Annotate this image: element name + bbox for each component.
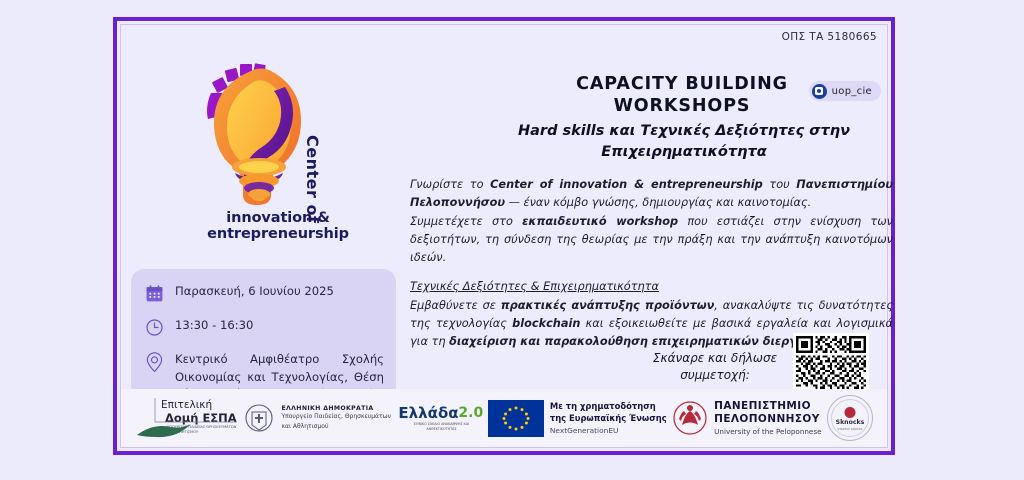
qr-caption: Σκάναρε και δήλωσε συμμετοχή: [650, 350, 780, 385]
uop-line-1: ΠΑΝΕΠΙΣΤΗΜΙΟ [714, 400, 821, 413]
sknocks-dot-icon [844, 407, 855, 418]
detail-row-date: Παρασκευή, 6 Ιουνίου 2025 [145, 283, 384, 307]
sknocks-logo: Sknocks STARTUP KNOCKS [827, 395, 873, 441]
ops-code: ΟΠΣ ΤΑ 5180665 [782, 31, 877, 43]
detail-row-time: 13:30 - 16:30 [145, 317, 384, 341]
clock-icon [145, 317, 171, 341]
page-subtitle: Hard skills και Τεχνικές Δεξιότητες στην… [499, 121, 869, 162]
location-pin-icon [145, 351, 171, 377]
qr-caption-line-1: Σκάναρε και δήλωσε [650, 350, 780, 367]
eu-funding-logo: Με τη χρηματοδότηση της Ευρωπαϊκής Ένωση… [488, 400, 667, 437]
poster: ΟΠΣ ΤΑ 5180665 uop_cie [113, 17, 895, 455]
subtitle-line-2: Επιχειρηματικότητα [499, 142, 869, 163]
ellada-sub: ΕΘΝΙΚΟ ΣΧΕΔΙΟ ΑΝΑΚΑΜΨΗΣ ΚΑΙ ΑΝΘΕΚΤΙΚΟΤΗΤ… [404, 422, 478, 431]
uop-logo: ΠΑΝΕΠΙΣΤΗΜΙΟ ΠΕΛΟΠΟΝΝΗΣΟΥ University of … [672, 399, 821, 437]
paragraph-intro: Γνωρίστε το Center of innovation & entre… [410, 176, 893, 213]
body-text: Γνωρίστε το Center of innovation & entre… [410, 176, 893, 352]
page-title: CAPACITY BUILDING WORKSHOPS [517, 73, 847, 118]
eu-line-2: της Ευρωπαϊκής Ένωσης [550, 413, 667, 424]
greek-coat-of-arms-icon [244, 402, 274, 434]
sknocks-sub: STARTUP KNOCKS [828, 427, 872, 431]
uop-line-3: University of the Peloponnese [714, 427, 821, 436]
espa-rule-icon [135, 396, 239, 440]
calendar-icon [145, 283, 171, 307]
eu-flag-icon [488, 400, 544, 437]
paragraph-workshop: Συμμετέχετε στο εκπαιδευτικό workshop πο… [410, 213, 893, 268]
event-details-card: Παρασκευή, 6 Ιουνίου 2025 13:30 - 16:30 … [131, 269, 396, 407]
footer-logo-bar: Επιτελική Δομή ΕΣΠΑ ΥΠΟΥΡΓΕΙΟ ΠΑΙΔΕΙΑΣ Θ… [121, 389, 887, 447]
logo-tagline: innovation & entrepreneurship [155, 210, 401, 242]
ellada-20-logo: Ελλάδα 2.0 ΕΘΝΙΚΟ ΣΧΕΔΙΟ ΑΝΑΚΑΜΨΗΣ ΚΑΙ Α… [396, 398, 482, 438]
greek-republic-line-3: και Αθλητισμού [281, 423, 391, 432]
detail-date-text: Παρασκευή, 6 Ιουνίου 2025 [171, 283, 334, 301]
title-line-2: WORKSHOPS [517, 95, 847, 117]
eu-line-1: Με τη χρηματοδότηση [550, 401, 667, 412]
espa-logo: Επιτελική Δομή ΕΣΠΑ ΥΠΟΥΡΓΕΙΟ ΠΑΙΔΕΙΑΣ Θ… [135, 396, 239, 440]
uop-line-2: ΠΕΛΟΠΟΝΝΗΣΟΥ [714, 413, 821, 426]
greek-republic-logo: ΕΛΛΗΝΙΚΗ ΔΗΜΟΚΡΑΤΙΑ Υπουργείο Παιδείας, … [244, 402, 391, 434]
greek-republic-line-1: ΕΛΛΗΝΙΚΗ ΔΗΜΟΚΡΑΤΙΑ [281, 405, 391, 412]
sknocks-name: Sknocks [828, 419, 872, 426]
ellada-name: Ελλάδα [398, 404, 458, 422]
subtitle-line-1: Hard skills και Τεχνικές Δεξιότητες στην [499, 121, 869, 142]
section-heading: Τεχνικές Δεξιότητες & Επιχειρηματικότητα [410, 278, 893, 296]
title-line-1: CAPACITY BUILDING [517, 73, 847, 95]
cie-logo: Center of innovation & entrepreneurship [153, 47, 403, 237]
greek-republic-line-2: Υπουργείο Παιδείας, Θρησκευμάτων [281, 413, 391, 422]
uop-seal-icon [672, 399, 708, 437]
detail-time-text: 13:30 - 16:30 [171, 317, 253, 335]
eu-line-3: NextGenerationEU [550, 426, 667, 435]
qr-caption-line-2: συμμετοχή: [650, 367, 780, 384]
ellada-version: 2.0 [458, 405, 483, 421]
